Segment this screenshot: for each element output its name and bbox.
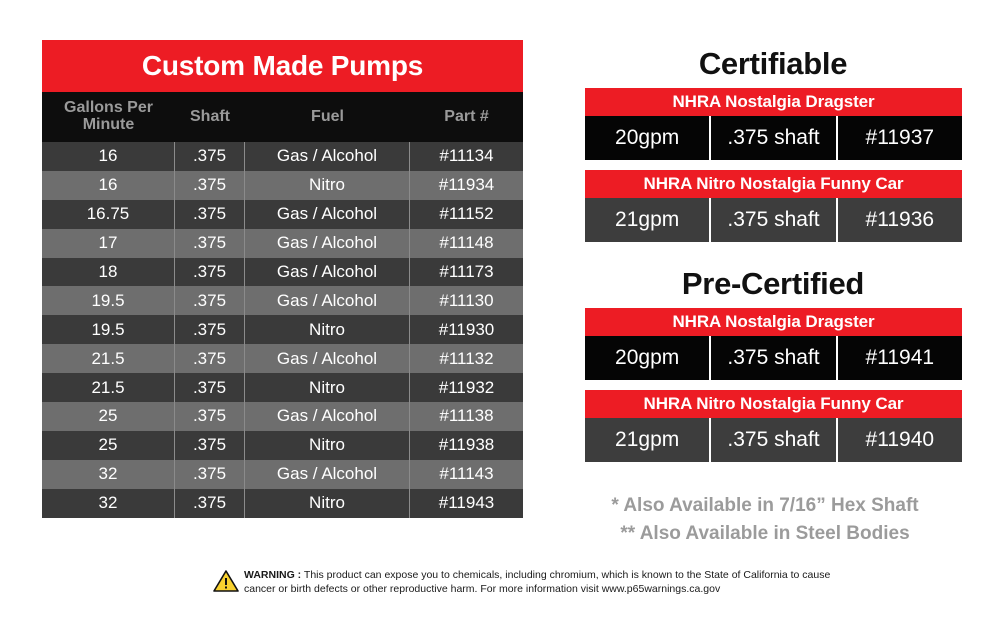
class-values-row: 20gpm .375 shaft #11941 xyxy=(585,336,962,380)
pre-certified-heading: Pre-Certified xyxy=(583,266,963,302)
gallons-per-minute-cell: 17 xyxy=(42,229,175,258)
fuel-cell: Gas / Alcohol xyxy=(245,200,410,229)
shaft-cell: .375 xyxy=(175,373,245,402)
fuel-cell: Nitro xyxy=(245,373,410,402)
gallons-per-minute-cell: 19.5 xyxy=(42,315,175,344)
gpm-value: 20gpm xyxy=(585,116,711,160)
fuel-cell: Gas / Alcohol xyxy=(245,142,410,171)
warning-text: WARNING : This product can expose you to… xyxy=(244,568,853,597)
part-number-cell: #11932 xyxy=(410,373,523,402)
fuel-cell: Nitro xyxy=(245,489,410,518)
table-row: 16.375Gas / Alcohol#11134 xyxy=(42,142,523,171)
pre-certified-nitro-nostalgia-funny-car-block: NHRA Nitro Nostalgia Funny Car 21gpm .37… xyxy=(585,390,962,462)
column-header-shaft: Shaft xyxy=(175,92,245,142)
part-number-cell: #11143 xyxy=(410,460,523,489)
shaft-cell: .375 xyxy=(175,402,245,431)
shaft-cell: .375 xyxy=(175,460,245,489)
certifiable-nitro-nostalgia-funny-car-block: NHRA Nitro Nostalgia Funny Car 21gpm .37… xyxy=(585,170,962,242)
class-label: NHRA Nitro Nostalgia Funny Car xyxy=(585,390,962,418)
shaft-cell: .375 xyxy=(175,171,245,200)
pumps-table-body: 16.375Gas / Alcohol#1113416.375Nitro#119… xyxy=(42,142,523,518)
class-values-row: 21gpm .375 shaft #11936 xyxy=(585,198,962,242)
fuel-cell: Nitro xyxy=(245,431,410,460)
part-number-cell: #11934 xyxy=(410,171,523,200)
table-row: 16.75.375Gas / Alcohol#11152 xyxy=(42,200,523,229)
part-number-cell: #11938 xyxy=(410,431,523,460)
shaft-value: .375 shaft xyxy=(711,336,837,380)
gallons-per-minute-cell: 21.5 xyxy=(42,373,175,402)
part-number-value: #11941 xyxy=(838,336,962,380)
fuel-cell: Nitro xyxy=(245,315,410,344)
column-header-part-number: Part # xyxy=(410,92,523,142)
part-number-cell: #11173 xyxy=(410,258,523,287)
fuel-cell: Gas / Alcohol xyxy=(245,402,410,431)
part-number-cell: #11138 xyxy=(410,402,523,431)
pumps-table-header-row: Gallons Per Minute Shaft Fuel Part # xyxy=(42,92,523,142)
custom-made-pumps-table: Custom Made Pumps Gallons Per Minute Sha… xyxy=(42,40,523,518)
gallons-per-minute-cell: 18 xyxy=(42,258,175,287)
part-number-cell: #11930 xyxy=(410,315,523,344)
availability-footnotes: * Also Available in 7/16” Hex Shaft ** A… xyxy=(560,492,970,547)
shaft-cell: .375 xyxy=(175,489,245,518)
table-row: 19.5.375Gas / Alcohol#11130 xyxy=(42,286,523,315)
fuel-cell: Gas / Alcohol xyxy=(245,229,410,258)
shaft-cell: .375 xyxy=(175,258,245,287)
warning-body: This product can expose you to chemicals… xyxy=(244,569,830,595)
gpm-value: 21gpm xyxy=(585,198,711,242)
prop65-warning: WARNING : This product can expose you to… xyxy=(213,568,853,598)
pumps-table-title: Custom Made Pumps xyxy=(142,50,423,82)
part-number-value: #11940 xyxy=(838,418,962,462)
part-number-cell: #11943 xyxy=(410,489,523,518)
gallons-per-minute-cell: 16 xyxy=(42,142,175,171)
table-row: 21.5.375Nitro#11932 xyxy=(42,373,523,402)
gallons-per-minute-cell: 16.75 xyxy=(42,200,175,229)
shaft-value: .375 shaft xyxy=(711,116,837,160)
table-row: 18.375Gas / Alcohol#11173 xyxy=(42,258,523,287)
table-row: 32.375Nitro#11943 xyxy=(42,489,523,518)
certifiable-heading: Certifiable xyxy=(583,46,963,82)
gallons-per-minute-cell: 21.5 xyxy=(42,344,175,373)
footnote-steel-bodies: ** Also Available in Steel Bodies xyxy=(560,520,970,548)
table-row: 25.375Nitro#11938 xyxy=(42,431,523,460)
warning-triangle-icon xyxy=(213,569,239,598)
table-row: 21.5.375Gas / Alcohol#11132 xyxy=(42,344,523,373)
shaft-cell: .375 xyxy=(175,229,245,258)
footnote-hex-shaft: * Also Available in 7/16” Hex Shaft xyxy=(560,492,970,520)
class-label: NHRA Nitro Nostalgia Funny Car xyxy=(585,170,962,198)
pre-certified-nostalgia-dragster-block: NHRA Nostalgia Dragster 20gpm .375 shaft… xyxy=(585,308,962,380)
gallons-per-minute-cell: 32 xyxy=(42,460,175,489)
shaft-cell: .375 xyxy=(175,286,245,315)
part-number-cell: #11152 xyxy=(410,200,523,229)
gallons-per-minute-cell: 32 xyxy=(42,489,175,518)
part-number-cell: #11130 xyxy=(410,286,523,315)
fuel-cell: Nitro xyxy=(245,171,410,200)
table-row: 32.375Gas / Alcohol#11143 xyxy=(42,460,523,489)
pumps-table-title-bar: Custom Made Pumps xyxy=(42,40,523,92)
table-row: 19.5.375Nitro#11930 xyxy=(42,315,523,344)
shaft-cell: .375 xyxy=(175,142,245,171)
class-label: NHRA Nostalgia Dragster xyxy=(585,88,962,116)
table-row: 17.375Gas / Alcohol#11148 xyxy=(42,229,523,258)
class-values-row: 20gpm .375 shaft #11937 xyxy=(585,116,962,160)
fuel-cell: Gas / Alcohol xyxy=(245,344,410,373)
gpm-value: 21gpm xyxy=(585,418,711,462)
gallons-per-minute-cell: 25 xyxy=(42,402,175,431)
gallons-per-minute-cell: 16 xyxy=(42,171,175,200)
shaft-cell: .375 xyxy=(175,200,245,229)
part-number-cell: #11132 xyxy=(410,344,523,373)
shaft-value: .375 shaft xyxy=(711,198,837,242)
shaft-value: .375 shaft xyxy=(711,418,837,462)
part-number-cell: #11134 xyxy=(410,142,523,171)
certifiable-nostalgia-dragster-block: NHRA Nostalgia Dragster 20gpm .375 shaft… xyxy=(585,88,962,160)
part-number-value: #11936 xyxy=(838,198,962,242)
part-number-cell: #11148 xyxy=(410,229,523,258)
column-header-gallons-per-minute: Gallons Per Minute xyxy=(42,92,175,142)
fuel-cell: Gas / Alcohol xyxy=(245,258,410,287)
gallons-per-minute-cell: 19.5 xyxy=(42,286,175,315)
class-label: NHRA Nostalgia Dragster xyxy=(585,308,962,336)
warning-label: WARNING : xyxy=(244,569,301,581)
class-values-row: 21gpm .375 shaft #11940 xyxy=(585,418,962,462)
shaft-cell: .375 xyxy=(175,344,245,373)
table-row: 16.375Nitro#11934 xyxy=(42,171,523,200)
table-row: 25.375Gas / Alcohol#11138 xyxy=(42,402,523,431)
fuel-cell: Gas / Alcohol xyxy=(245,286,410,315)
fuel-cell: Gas / Alcohol xyxy=(245,460,410,489)
shaft-cell: .375 xyxy=(175,315,245,344)
column-header-fuel: Fuel xyxy=(245,92,410,142)
gallons-per-minute-cell: 25 xyxy=(42,431,175,460)
part-number-value: #11937 xyxy=(838,116,962,160)
gpm-value: 20gpm xyxy=(585,336,711,380)
shaft-cell: .375 xyxy=(175,431,245,460)
